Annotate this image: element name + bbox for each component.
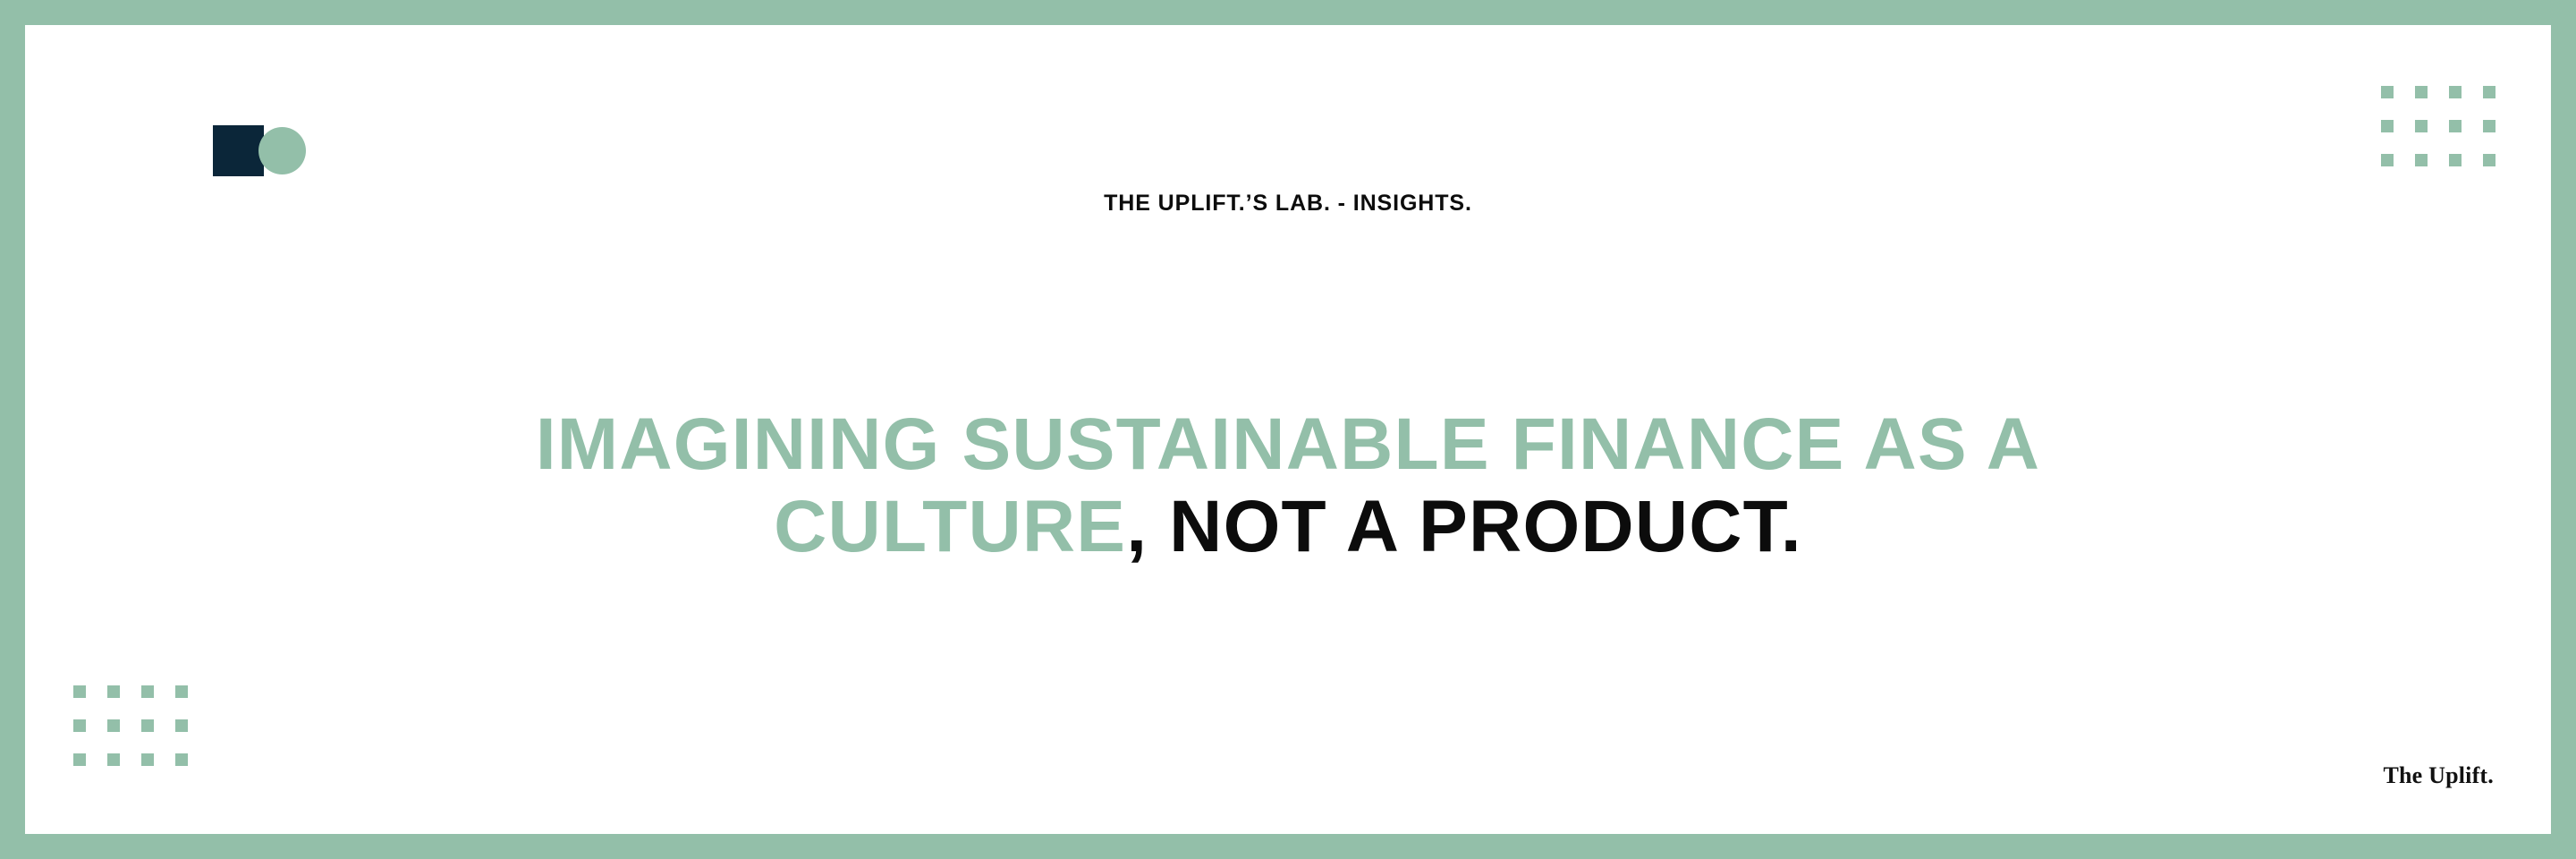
insights-banner: THE UPLIFT.’S LAB. - INSIGHTS. IMAGINING… — [0, 0, 2576, 859]
dot-square-icon — [141, 753, 154, 766]
dot-square-icon — [141, 719, 154, 732]
logo-square-icon — [213, 125, 264, 176]
dot-square-icon — [107, 719, 120, 732]
banner-canvas: THE UPLIFT.’S LAB. - INSIGHTS. IMAGINING… — [25, 25, 2551, 834]
dot-square-icon — [2449, 120, 2462, 132]
the-uplift-logo[interactable] — [188, 120, 322, 183]
dot-square-icon — [73, 753, 86, 766]
dot-square-icon — [2381, 86, 2394, 98]
dot-square-icon — [2415, 154, 2428, 166]
eyebrow-label: THE UPLIFT.’S LAB. - INSIGHTS. — [25, 191, 2551, 217]
footer-wordmark: The Uplift. — [2383, 762, 2494, 789]
dot-square-icon — [2483, 154, 2495, 166]
dot-square-icon — [2415, 86, 2428, 98]
dot-square-icon — [73, 719, 86, 732]
dot-grid-bottom-left — [73, 685, 188, 766]
dot-square-icon — [2449, 86, 2462, 98]
dot-square-icon — [175, 753, 188, 766]
dot-square-icon — [73, 685, 86, 698]
dot-grid-top-right — [2381, 86, 2495, 166]
dot-square-icon — [107, 685, 120, 698]
page-title: IMAGINING SUSTAINABLE FINANCE AS A CULTU… — [349, 404, 2227, 568]
dot-square-icon — [2415, 120, 2428, 132]
logo-circle-icon — [258, 127, 306, 174]
dot-square-icon — [2381, 154, 2394, 166]
dot-square-icon — [175, 685, 188, 698]
dot-square-icon — [141, 685, 154, 698]
dot-square-icon — [175, 719, 188, 732]
dot-square-icon — [2449, 154, 2462, 166]
dot-square-icon — [2483, 120, 2495, 132]
dot-square-icon — [107, 753, 120, 766]
headline-dark-text: , NOT A PRODUCT. — [1126, 486, 1802, 567]
dot-square-icon — [2483, 86, 2495, 98]
dot-square-icon — [2381, 120, 2394, 132]
